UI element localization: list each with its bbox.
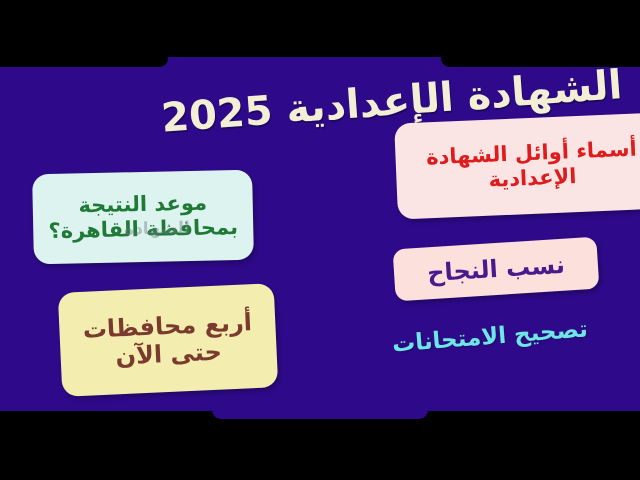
card-four-governorates[interactable]: أربع محافظات حتى الآن (58, 283, 278, 397)
thumbnail-canvas: الشهادة الإعدادية 2025 أسماء أوائل الشها… (0, 0, 640, 480)
card-result-date-cairo[interactable]: موعد النتيجة بمحافظة القاهرة؟ (32, 170, 254, 265)
card-top-students-names-label: أسماء أوائل الشهادة الإعدادية (409, 136, 640, 196)
card-top-students-names[interactable]: أسماء أوائل الشهادة الإعدادية (394, 112, 640, 219)
card-result-date-cairo-label: موعد النتيجة بمحافظة القاهرة؟ (43, 190, 244, 244)
card-success-rates-label: نسب النجاح (426, 251, 565, 288)
card-four-governorates-label: أربع محافظات حتى الآن (69, 307, 267, 372)
